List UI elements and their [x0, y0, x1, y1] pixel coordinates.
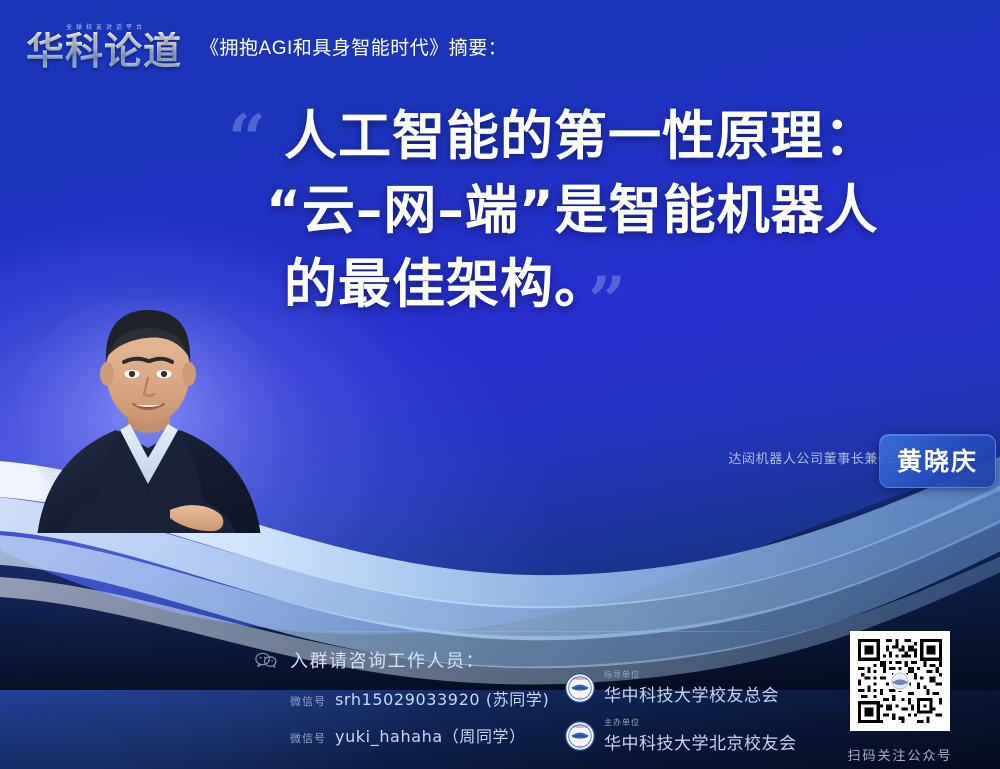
poster-canvas: 全球校友对话平台 华科论道 《拥抱AGI和具身智能时代》摘要： “ 人工智能的第… [0, 0, 1000, 769]
organization-kind: 主办单位 [604, 719, 797, 728]
university-seal-icon: 华中科技大学 1952 [565, 721, 595, 751]
brand-logo: 全球校友对话平台 华科论道 [26, 22, 182, 70]
footer: 入群请咨询工作人员： 微信号 srh15029033920 (苏同学) 微信号 … [255, 643, 1000, 763]
qr-code[interactable] [850, 631, 950, 731]
contact-title: 入群请咨询工作人员： [290, 647, 485, 673]
quote-line-2: “云–网–端”是智能机器人 [236, 174, 956, 248]
wechat-id: srh15029033920 (苏同学) [335, 686, 549, 710]
speaker-name-badge: 黄晓庆 [879, 434, 996, 488]
footer-divider [286, 631, 782, 632]
speaker-attribution: 达闼机器人公司董事长兼CEO 黄晓庆 [728, 448, 908, 467]
quote-line-1: 人工智能的第一性原理： [236, 100, 956, 174]
wechat-label: 微信号 [290, 693, 326, 709]
wechat-id: yuki_hahaha（周同学） [335, 723, 526, 747]
organization-row: 华中科技大学 1952 指导单位 华中科技大学校友总会 [565, 671, 797, 706]
organization-name: 华中科技大学校友总会 [604, 681, 779, 706]
page-title: 《拥抱AGI和具身智能时代》摘要： [200, 33, 507, 60]
logo-text: 华科论道 [26, 32, 182, 70]
svg-text:华中科技大学: 华中科技大学 [572, 724, 588, 728]
wechat-icon [255, 652, 277, 668]
organization-row: 华中科技大学 1952 主办单位 华中科技大学北京校友会 [565, 719, 797, 754]
qr-block: 扫码关注公众号 [835, 631, 965, 764]
speaker-portrait [20, 298, 290, 548]
organization-name: 华中科技大学北京校友会 [604, 729, 797, 754]
svg-text:华中科技大学: 华中科技大学 [572, 677, 588, 681]
organizations: 华中科技大学 1952 指导单位 华中科技大学校友总会 华中科技大学 1952 [565, 671, 797, 767]
quote-block: “ 人工智能的第一性原理： “云–网–端”是智能机器人 的最佳架构。 ” [236, 100, 956, 322]
quote-close-icon: ” [588, 268, 626, 334]
header: 全球校友对话平台 华科论道 《拥抱AGI和具身智能时代》摘要： [0, 0, 1000, 92]
wechat-label: 微信号 [290, 730, 326, 746]
svg-text:1952: 1952 [577, 745, 583, 748]
organization-kind: 指导单位 [604, 671, 779, 680]
qr-caption: 扫码关注公众号 [835, 745, 965, 764]
quote-open-icon: “ [228, 106, 266, 172]
svg-text:1952: 1952 [577, 698, 583, 701]
university-seal-icon: 华中科技大学 1952 [565, 673, 595, 703]
